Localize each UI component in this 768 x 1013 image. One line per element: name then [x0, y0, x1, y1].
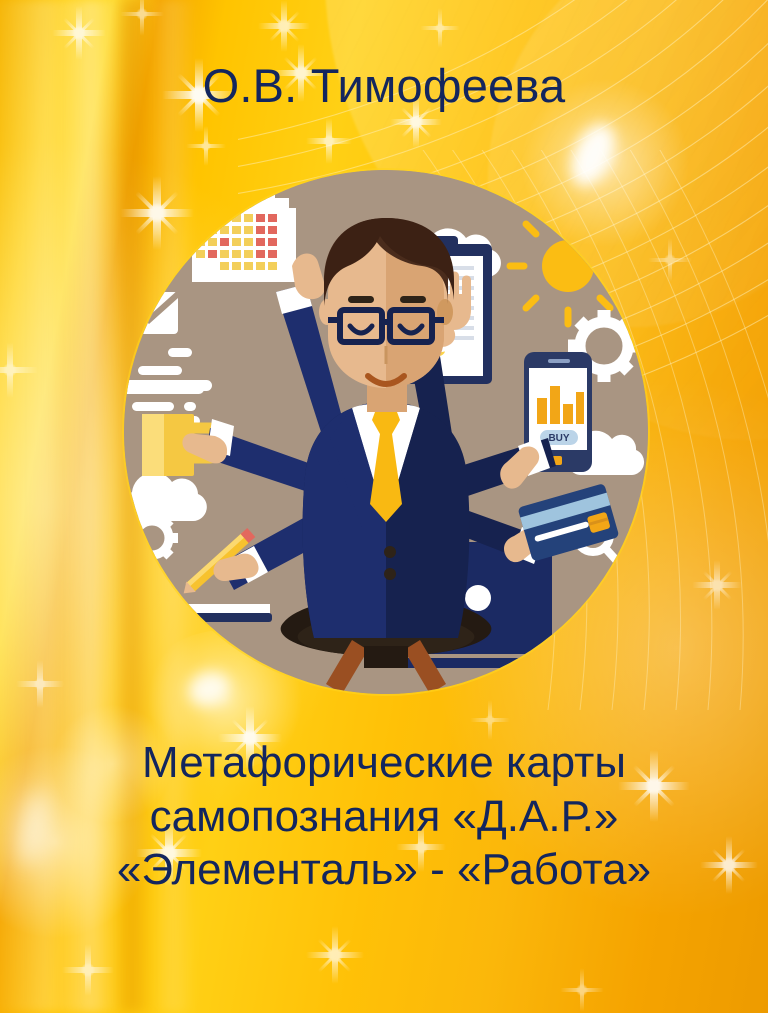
sparkle-star [0, 342, 38, 398]
sparkle-star [692, 560, 742, 610]
phone-buy-label: BUY [548, 433, 569, 444]
sun-icon [510, 208, 626, 324]
sparkle-star [16, 660, 64, 708]
sparkle-star [420, 8, 460, 48]
title-line-3: «Элементаль» - «Работа» [0, 843, 768, 897]
sparkle-star [120, 176, 194, 250]
sparkle-star [560, 968, 604, 1012]
sparkle-star [120, 0, 164, 36]
author-name: О.В. Тимофеева [0, 58, 768, 113]
sparkle-star [52, 6, 106, 60]
lens-flare-ellipse [184, 666, 234, 711]
title-line-1: Метафорические карты [0, 736, 768, 790]
envelope-icon [124, 292, 178, 334]
wall-calendar-icon [192, 188, 296, 282]
notebook-icon [182, 604, 272, 622]
figure-torso [303, 402, 470, 638]
sparkle-star [470, 700, 510, 740]
cover-illustration: BUY [124, 170, 648, 694]
sparkle-star [62, 944, 114, 996]
sparkle-star [306, 118, 352, 164]
title-line-2: самопознания «Д.А.Р.» [0, 790, 768, 844]
sparkle-star [306, 926, 364, 984]
lens-flare-ellipse [562, 117, 624, 193]
sparkle-star [648, 238, 692, 282]
book-cover: О.В. Тимофеева [0, 0, 768, 1013]
sparkle-star [258, 0, 310, 52]
sparkle-star [186, 126, 226, 166]
book-title: Метафорические карты самопознания «Д.А.Р… [0, 736, 768, 897]
